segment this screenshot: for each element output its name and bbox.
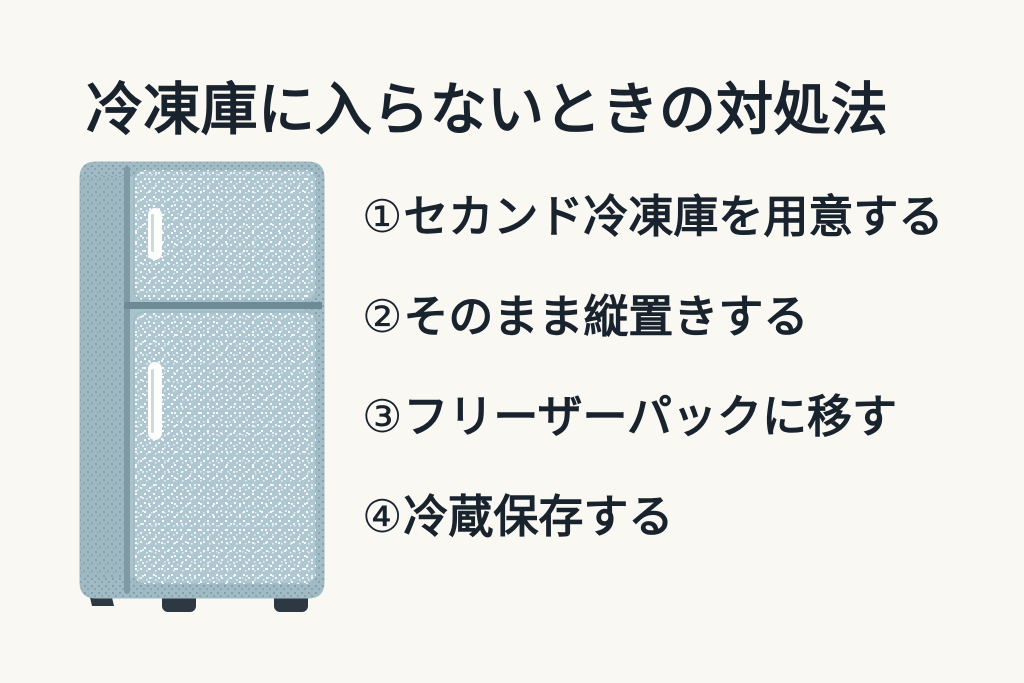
- step-label-4: 冷蔵保存する: [403, 493, 673, 540]
- side-panel-texture: [80, 162, 126, 598]
- freezer-handle-groove: [151, 214, 154, 252]
- fridge-handle-groove: [151, 369, 154, 433]
- list-item: ① セカンド冷凍庫を用意する: [362, 193, 1022, 293]
- list-item: ④ 冷蔵保存する: [362, 493, 1022, 593]
- fridge-door: [134, 312, 316, 584]
- page-title: 冷凍庫に入らないときの対処法: [86, 82, 986, 139]
- fridge-handle: [148, 362, 162, 440]
- refrigerator-illustration: [62, 150, 342, 620]
- list-item: ② そのまま縦置きする: [362, 293, 1022, 393]
- step-number-2: ②: [362, 293, 402, 340]
- freezer-handle: [148, 208, 162, 260]
- steps-list: ① セカンド冷凍庫を用意する ② そのまま縦置きする ③ フリーザーパックに移す…: [362, 193, 1022, 593]
- list-item: ③ フリーザーパックに移す: [362, 393, 1022, 493]
- step-label-3: フリーザーパックに移す: [403, 393, 897, 440]
- poster-canvas: 冷凍庫に入らないときの対処法: [0, 0, 1024, 683]
- hinge-line: [124, 166, 130, 594]
- refrigerator-svg: [62, 150, 342, 620]
- freezer-door: [134, 170, 316, 300]
- step-label-1: セカンド冷凍庫を用意する: [403, 193, 943, 240]
- step-number-1: ①: [362, 193, 402, 240]
- step-label-2: そのまま縦置きする: [403, 293, 808, 340]
- door-divider: [124, 302, 322, 309]
- step-number-3: ③: [362, 393, 402, 440]
- step-number-4: ④: [362, 493, 402, 540]
